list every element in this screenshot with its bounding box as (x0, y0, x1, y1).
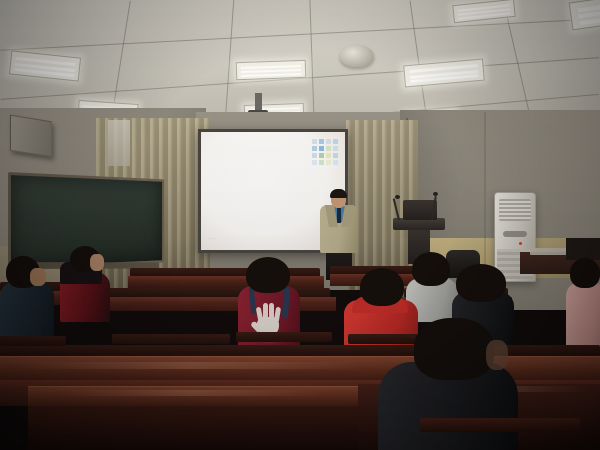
smoke-detector-icon (340, 45, 374, 67)
logo-square (319, 139, 324, 144)
desk-front-panel (28, 406, 358, 450)
audience-head (456, 264, 506, 302)
stacked-papers (530, 248, 570, 255)
handprint-finger (263, 303, 268, 321)
lecture-hall-photo:    ····· (0, 0, 600, 450)
handprint-finger (274, 307, 281, 322)
logo-square (319, 160, 324, 165)
wall-speaker-icon (10, 115, 52, 158)
microphone-head (433, 192, 438, 196)
logo-square (312, 160, 317, 165)
wall-corner-seam (484, 112, 486, 280)
bench-row (0, 336, 66, 346)
logo-square (312, 139, 317, 144)
logo-square (319, 146, 324, 151)
chair-back (420, 418, 580, 432)
bench-row (236, 332, 332, 342)
bench-row (112, 334, 230, 344)
logo-square (326, 146, 331, 151)
audience-torso (566, 282, 600, 354)
logo-square (333, 160, 338, 165)
desk-reflection (20, 362, 360, 369)
presenter-hair (330, 189, 347, 198)
desk-row (128, 276, 324, 288)
slide-footer-text: ····· (208, 237, 216, 241)
logo-square (333, 146, 338, 151)
audience-head (414, 318, 494, 380)
window-pane (108, 120, 130, 166)
audience-head (570, 258, 600, 288)
ac-power-indicator (519, 242, 522, 245)
recessed-troffer-light (9, 50, 81, 81)
logo-square (326, 160, 331, 165)
desk-reflection (60, 390, 320, 396)
logo-square (319, 153, 324, 158)
slide-logo-grid-icon (312, 139, 338, 165)
logo-square (326, 139, 331, 144)
logo-square (333, 139, 338, 144)
recessed-troffer-light (569, 0, 600, 30)
equipment-box (566, 238, 600, 260)
microphone-head (395, 195, 400, 199)
logo-square (333, 153, 338, 158)
audience-face (90, 254, 104, 271)
ac-vent (503, 231, 527, 237)
logo-square (326, 153, 331, 158)
recessed-troffer-light (236, 60, 307, 80)
desk-row (96, 297, 336, 311)
audience-face (486, 340, 508, 370)
audience-head (412, 252, 450, 286)
audience-face (30, 268, 46, 286)
slide-title-text:    (201, 184, 345, 196)
audience-head (360, 268, 404, 306)
logo-square (312, 153, 317, 158)
audience-head (246, 257, 290, 293)
logo-square (312, 146, 317, 151)
ac-air-grille (499, 199, 531, 221)
recessed-troffer-light (403, 59, 485, 88)
presenter-tie (337, 208, 341, 223)
